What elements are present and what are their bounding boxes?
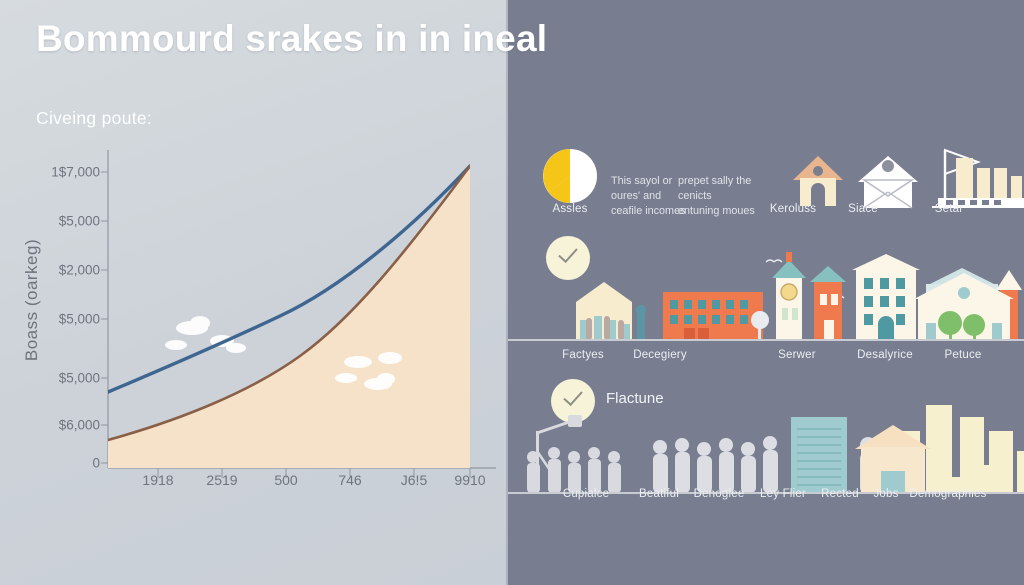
right-panel-heading: Civeing poute:: [36, 108, 152, 129]
petuce-building: [904, 265, 1024, 355]
x-tick: 2519: [187, 472, 257, 488]
pie-chart-icon: [543, 149, 597, 203]
worker-figures: [527, 447, 621, 493]
mail-house-icon: [858, 156, 918, 208]
area-chart: Boass (oarkeg) 1$7,000 $5,000 $2,000 $5,…: [0, 120, 508, 540]
middle-row-label-petuce: Petuce: [908, 349, 1018, 361]
cloud-icon: [165, 316, 246, 353]
house-icon: [793, 156, 843, 206]
x-tick: 9910: [435, 472, 505, 488]
page-title: Bommourd srakes in in ineal: [36, 18, 996, 60]
village-illustration: [117, 498, 494, 540]
legend-pie-label: Assles: [515, 203, 625, 215]
x-tick: 1918: [123, 472, 193, 488]
legend-icon-label-setar: Setar: [894, 203, 1004, 215]
x-axis-ticks: 1918 2519 500 746 J6!5 9910: [0, 472, 508, 502]
middle-row-label-decegiery: Decegiery: [605, 349, 715, 361]
ascending-bars: [949, 437, 1024, 493]
screenshot-root: Bommourd srakes in in ineal Boass (oarke…: [0, 0, 1024, 585]
crowd-figures: [653, 436, 778, 493]
factory-bars-icon: [932, 150, 1024, 207]
x-tick: 500: [251, 472, 321, 488]
x-tick: 746: [315, 472, 385, 488]
bottom-row-label-demographies: Demographies: [893, 488, 1003, 500]
bottom-row-house-bars: [845, 415, 1024, 495]
